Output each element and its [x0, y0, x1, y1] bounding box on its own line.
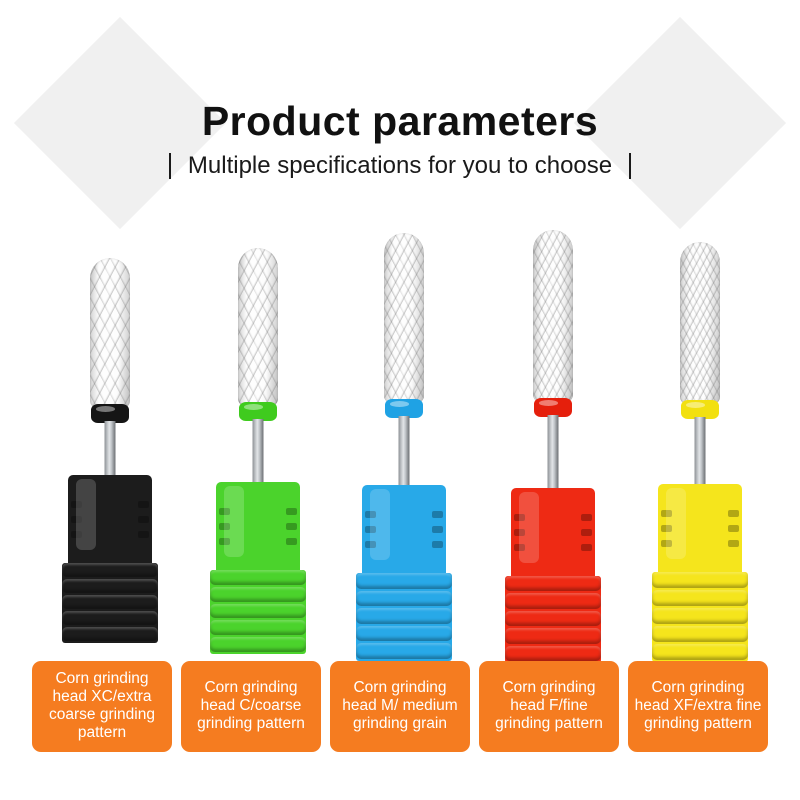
- base-rib: [62, 627, 158, 641]
- base-rib: [210, 570, 306, 585]
- base-notch: [514, 514, 525, 521]
- drill-bit-xc[interactable]: [35, 230, 185, 650]
- collar-gloss: [390, 401, 409, 407]
- base-notch: [365, 526, 376, 533]
- base-upper-green: [216, 482, 300, 574]
- collar-gloss: [539, 400, 558, 406]
- base-rib: [356, 573, 452, 589]
- page-header: Product parameters Multiple specificatio…: [0, 0, 800, 230]
- drill-bit-m[interactable]: [329, 230, 479, 650]
- base-gloss: [666, 488, 686, 560]
- base-notch: [71, 516, 82, 523]
- base-notch: [661, 525, 672, 532]
- base-rib: [505, 593, 601, 608]
- base-gloss: [370, 489, 390, 561]
- base-notch: [432, 511, 443, 518]
- ceramic-head-c: [238, 248, 278, 406]
- subtitle-right-bar-icon: [629, 153, 631, 179]
- base-notch: [365, 541, 376, 548]
- base-rib: [652, 644, 748, 660]
- base-rib: [505, 646, 601, 661]
- drill-bit-xf[interactable]: [625, 230, 775, 650]
- base-notch: [219, 538, 230, 545]
- product-parameters-page: Product parameters Multiple specificatio…: [0, 0, 800, 800]
- collar-gloss: [244, 404, 263, 410]
- page-title: Product parameters: [0, 98, 800, 145]
- caption-c[interactable]: Corn grinding head C/coarse grinding pat…: [181, 661, 321, 752]
- base-notch: [286, 523, 297, 530]
- base-gloss: [224, 486, 244, 558]
- base-notch: [581, 544, 592, 551]
- base-rib: [356, 626, 452, 642]
- collar-gloss: [686, 402, 705, 408]
- base-rib: [62, 563, 158, 577]
- base-rib: [356, 591, 452, 607]
- base-notch: [432, 541, 443, 548]
- ceramic-head-xf: [680, 242, 720, 404]
- base-upper-blue: [362, 485, 446, 577]
- ceramic-head-shading: [533, 230, 573, 402]
- base-notch: [219, 508, 230, 515]
- base-notch: [728, 540, 739, 547]
- base-rib: [652, 608, 748, 624]
- base-ribs-yellow: [652, 572, 748, 662]
- caption-f[interactable]: Corn grinding head F/fine grinding patte…: [479, 661, 619, 752]
- base-notch: [514, 544, 525, 551]
- base-notch: [728, 525, 739, 532]
- base-upper-red: [511, 488, 595, 580]
- base-notch: [286, 508, 297, 515]
- ceramic-head-shading: [680, 242, 720, 404]
- caption-xc[interactable]: Corn grinding head XC/extra coarse grind…: [32, 661, 172, 752]
- base-notch: [661, 510, 672, 517]
- base-notch: [138, 531, 149, 538]
- base-rib: [62, 579, 158, 593]
- base-notch: [71, 531, 82, 538]
- collar-gloss: [96, 406, 115, 412]
- base-notch: [514, 529, 525, 536]
- drill-bit-f[interactable]: [478, 230, 628, 650]
- ceramic-head-f: [533, 230, 573, 402]
- ceramic-head-xc: [90, 258, 130, 408]
- page-subtitle: Multiple specifications for you to choos…: [188, 152, 612, 180]
- base-rib: [652, 626, 748, 642]
- base-notch: [581, 529, 592, 536]
- ceramic-head-m: [384, 233, 424, 403]
- subtitle-left-bar-icon: [169, 153, 171, 179]
- base-rib: [356, 643, 452, 659]
- base-notch: [432, 526, 443, 533]
- base-rib: [356, 608, 452, 624]
- base-notch: [661, 540, 672, 547]
- base-rib: [210, 620, 306, 635]
- caption-m[interactable]: Corn grinding head M/ medium grinding gr…: [330, 661, 470, 752]
- base-ribs-green: [210, 570, 306, 654]
- product-image-row: [0, 230, 800, 650]
- base-notch: [138, 516, 149, 523]
- base-rib: [505, 628, 601, 643]
- base-upper-yellow: [658, 484, 742, 576]
- base-notch: [71, 501, 82, 508]
- base-rib: [210, 587, 306, 602]
- base-rib: [505, 611, 601, 626]
- base-notch: [219, 523, 230, 530]
- base-upper-black: [68, 475, 152, 567]
- base-notch: [138, 501, 149, 508]
- base-rib: [210, 604, 306, 619]
- ceramic-head-shading: [384, 233, 424, 403]
- ceramic-head-shading: [90, 258, 130, 408]
- ceramic-head-shading: [238, 248, 278, 406]
- base-rib: [652, 590, 748, 606]
- base-ribs-black: [62, 563, 158, 643]
- base-rib: [62, 595, 158, 609]
- drill-bit-c[interactable]: [183, 230, 333, 650]
- base-rib: [62, 611, 158, 625]
- base-rib: [652, 572, 748, 588]
- base-notch: [728, 510, 739, 517]
- caption-xf[interactable]: Corn grinding head XF/extra fine grindin…: [628, 661, 768, 752]
- subtitle-row: Multiple specifications for you to choos…: [0, 152, 800, 180]
- base-ribs-blue: [356, 573, 452, 661]
- base-notch: [581, 514, 592, 521]
- base-notch: [286, 538, 297, 545]
- base-rib: [505, 576, 601, 591]
- base-ribs-red: [505, 576, 601, 663]
- base-gloss: [519, 492, 539, 564]
- base-gloss: [76, 479, 96, 551]
- base-notch: [365, 511, 376, 518]
- base-rib: [210, 637, 306, 652]
- product-caption-row: Corn grinding head XC/extra coarse grind…: [32, 661, 768, 752]
